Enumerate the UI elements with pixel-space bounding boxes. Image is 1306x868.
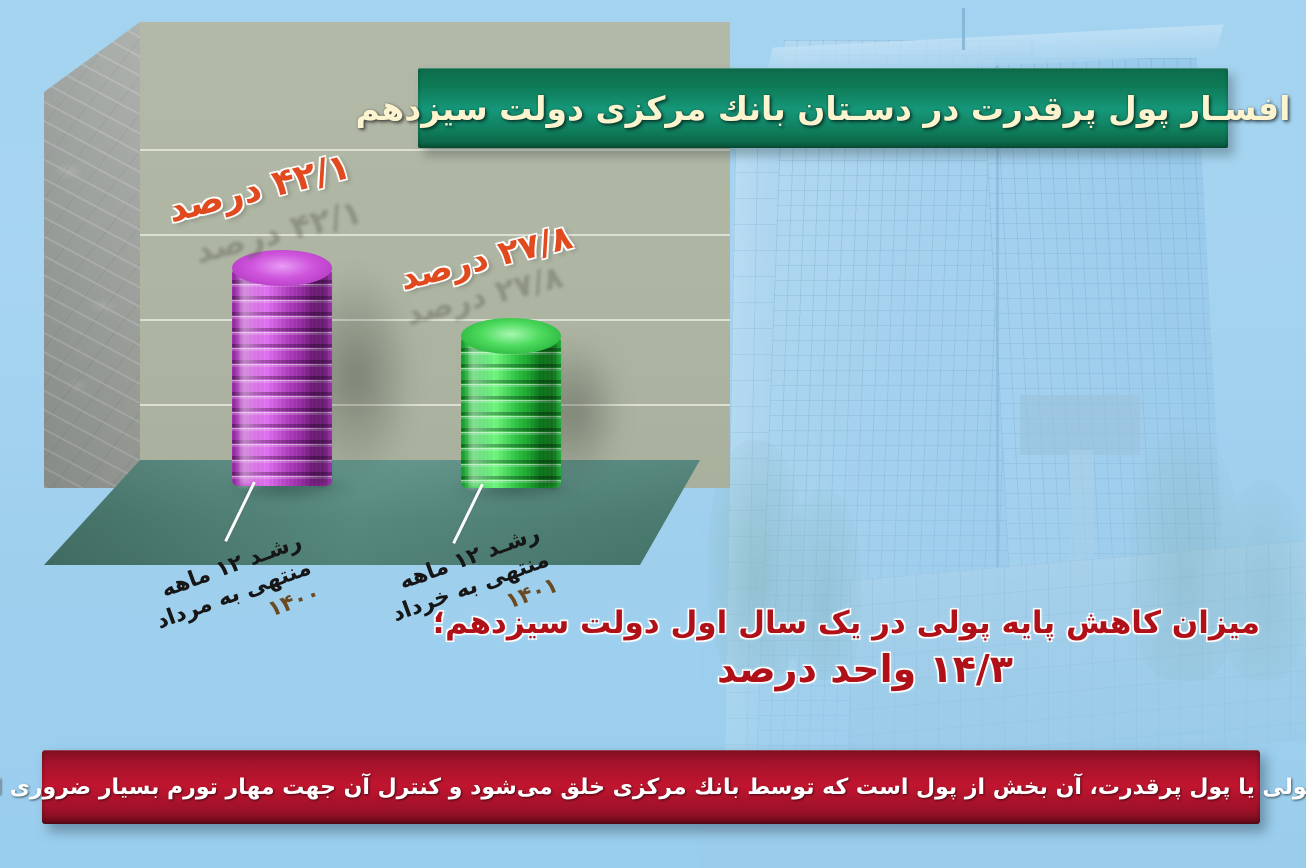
- bar-shading: [302, 268, 328, 486]
- coin-top-face: [461, 318, 561, 354]
- bar-khordad-1401[interactable]: [461, 336, 561, 488]
- footer-note: پایه پولی یا پول پرقدرت، آن بخش از پول ا…: [0, 775, 1306, 800]
- bar-highlight: [240, 268, 266, 486]
- bar-shading: [531, 336, 557, 488]
- page-title: افسـار پول پرقدرت در دسـتان بانك مركزی د…: [356, 89, 1291, 128]
- bar-mordad-1400[interactable]: [232, 268, 332, 486]
- bar-highlight: [469, 336, 495, 488]
- key-stat-caption: میزان کاهش پایه پولی در یک سال اول دولت …: [470, 604, 1260, 644]
- title-banner: افسـار پول پرقدرت در دسـتان بانك مركزی د…: [418, 68, 1228, 148]
- infographic-canvas: ۴۲/۱ درصد ۲۷/۸ درصد ۴۲/۱ درصد ۲۷/۸ درصد …: [0, 0, 1306, 868]
- key-stat-block: میزان کاهش پایه پولی در یک سال اول دولت …: [470, 604, 1260, 695]
- footer-banner: پایه پولی یا پول پرقدرت، آن بخش از پول ا…: [42, 750, 1260, 824]
- chart-left-wall: [44, 22, 140, 488]
- key-stat-value: ۱۴/۳ واحد درصد: [470, 644, 1260, 695]
